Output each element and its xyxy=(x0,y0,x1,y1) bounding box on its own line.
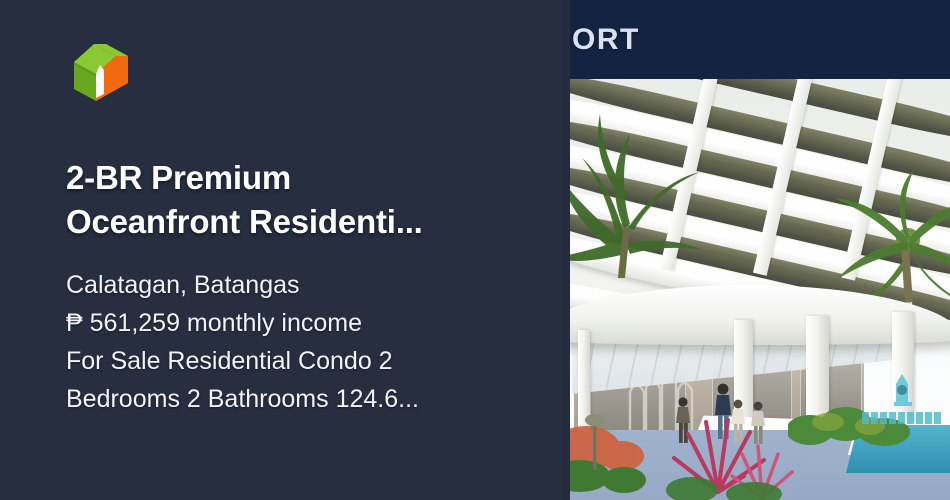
garden-lamp-post xyxy=(584,410,606,470)
listing-title: 2-BR Premium Oceanfront Residenti... xyxy=(66,156,526,244)
photo-left-edge-strip xyxy=(562,0,570,500)
photo-top-banner: ORT xyxy=(562,0,950,79)
person-standing-right xyxy=(748,400,768,444)
person-standing-left xyxy=(672,396,694,444)
property-listing-card: 2-BR Premium Oceanfront Residenti... Cal… xyxy=(0,0,950,500)
listing-info-panel: 2-BR Premium Oceanfront Residenti... Cal… xyxy=(0,0,562,500)
detail-type-line1: For Sale Residential Condo 2 xyxy=(66,342,538,380)
banner-partial-text: ORT xyxy=(572,23,640,57)
resort-logo-sign xyxy=(858,372,950,428)
photo-canvas: ORT xyxy=(562,0,950,500)
detail-price: ₱ 561,259 monthly income xyxy=(66,304,538,342)
detail-location: Calatagan, Batangas xyxy=(66,266,538,304)
pool-water xyxy=(846,425,950,473)
detail-type-line2: Bedrooms 2 Bathrooms 124.6... xyxy=(66,380,538,418)
person-with-luggage xyxy=(728,398,748,444)
isometric-house-logo xyxy=(66,40,140,104)
property-photo: ORT xyxy=(562,0,950,500)
listing-details: Calatagan, Batangas ₱ 561,259 monthly in… xyxy=(66,266,538,418)
